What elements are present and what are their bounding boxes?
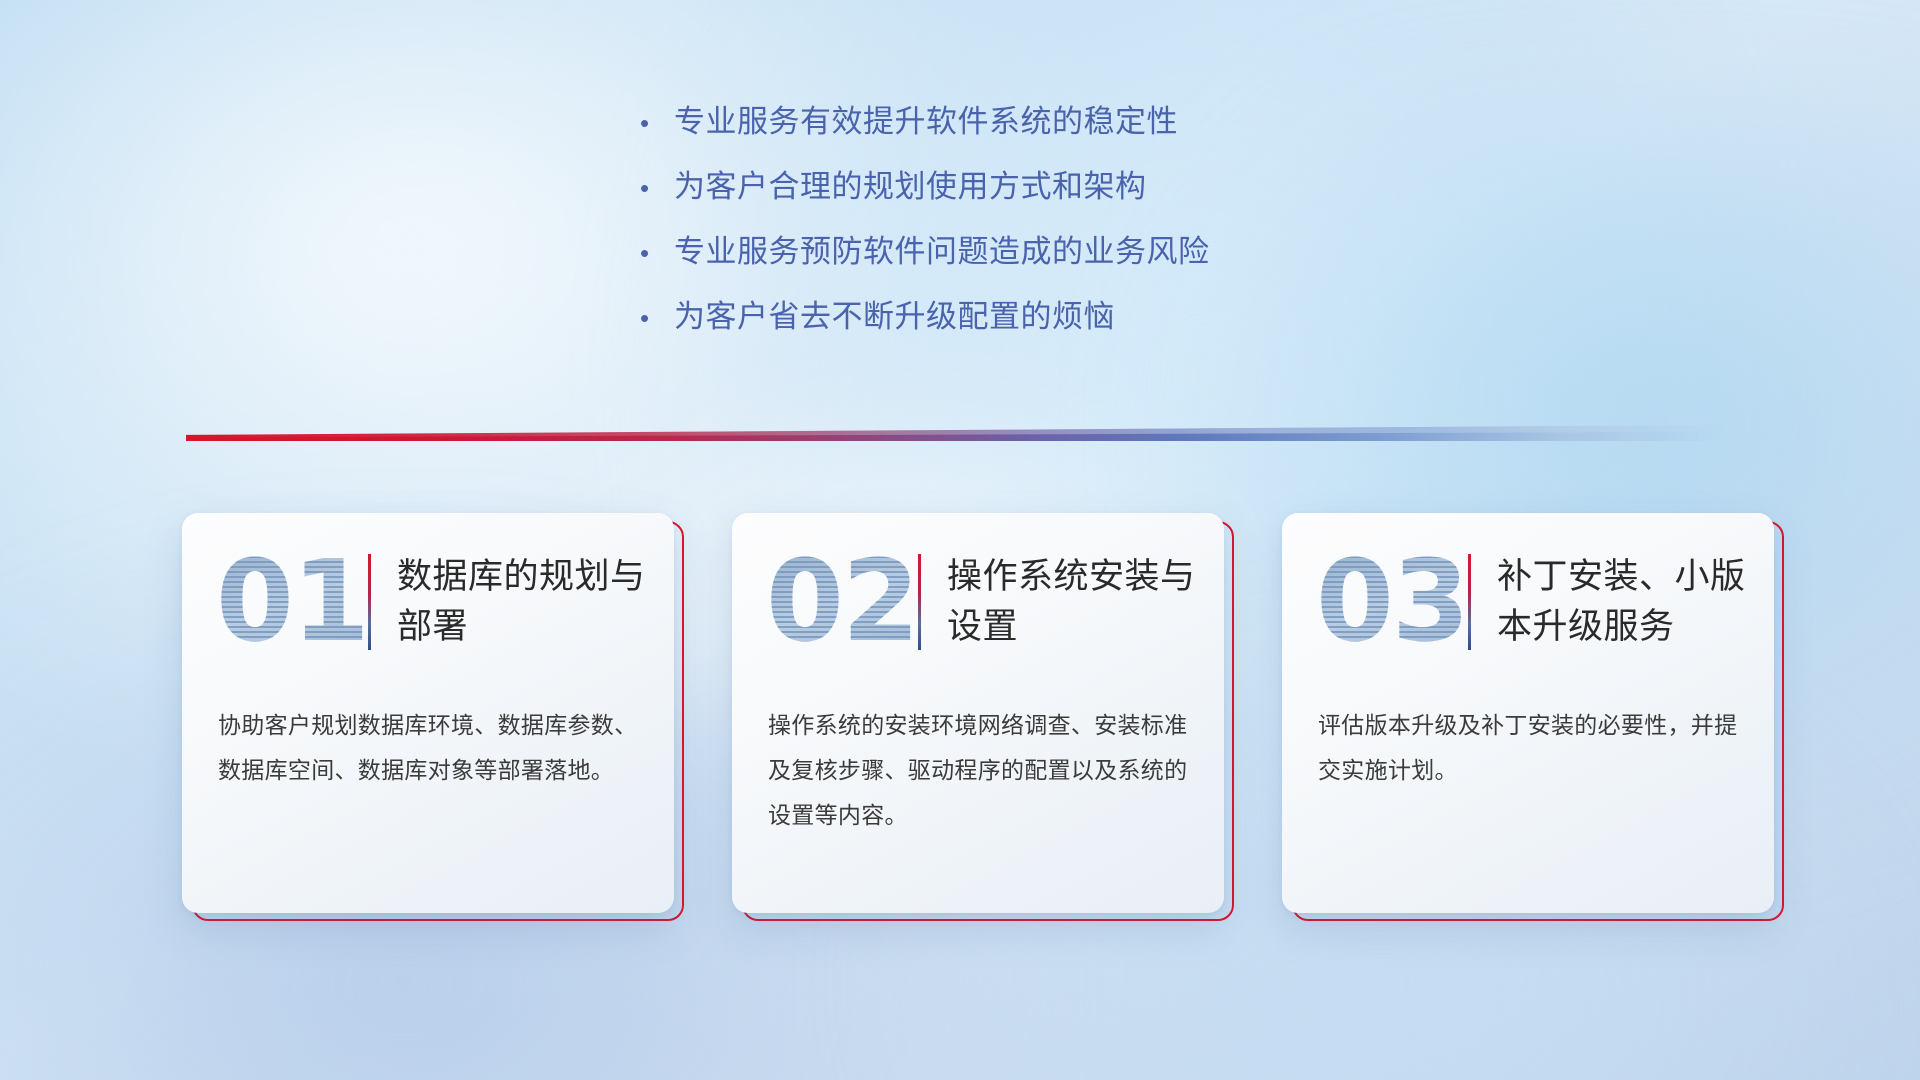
bullet-dot-icon: • (640, 240, 674, 266)
card-divider-rule (918, 554, 921, 650)
service-card-03[interactable]: 03 补丁安装、小版本升级服务 评估版本升级及补丁安装的必要性，并提交实施计划。 (1282, 513, 1774, 913)
card-divider-rule (1468, 554, 1471, 650)
gradient-divider (186, 425, 1726, 441)
card-divider-rule (368, 554, 371, 650)
card-number-watermark: 02 (766, 536, 910, 668)
card-title: 操作系统安装与设置 (947, 552, 1199, 652)
list-item: • 为客户合理的规划使用方式和架构 (640, 161, 1400, 226)
card-number-text: 02 (766, 536, 918, 668)
bullet-dot-icon: • (640, 305, 674, 331)
bullet-text: 为客户省去不断升级配置的烦恼 (674, 291, 1115, 336)
bullet-text: 专业服务预防软件问题造成的业务风险 (674, 226, 1210, 271)
bullet-dot-icon: • (640, 110, 674, 136)
card-title: 数据库的规划与部署 (397, 552, 649, 652)
card-title: 补丁安装、小版本升级服务 (1497, 552, 1749, 652)
card-description: 操作系统的安装环境网络调查、安装标准及复核步骤、驱动程序的配置以及系统的设置等内… (732, 691, 1224, 838)
card-panel[interactable]: 03 补丁安装、小版本升级服务 评估版本升级及补丁安装的必要性，并提交实施计划。 (1282, 513, 1774, 913)
list-item: • 专业服务有效提升软件系统的稳定性 (640, 96, 1400, 161)
service-card-01[interactable]: 01 数据库的规划与部署 协助客户规划数据库环境、数据库参数、数据库空间、数据库… (182, 513, 674, 913)
list-item: • 专业服务预防软件问题造成的业务风险 (640, 226, 1400, 291)
bullet-text: 专业服务有效提升软件系统的稳定性 (674, 96, 1178, 141)
benefits-bullet-list: • 专业服务有效提升软件系统的稳定性 • 为客户合理的规划使用方式和架构 • 专… (640, 96, 1400, 356)
card-panel[interactable]: 02 操作系统安装与设置 操作系统的安装环境网络调查、安装标准及复核步骤、驱动程… (732, 513, 1224, 913)
card-header: 03 补丁安装、小版本升级服务 (1282, 513, 1774, 691)
card-number-text: 01 (216, 536, 368, 668)
card-number-text: 03 (1316, 536, 1468, 668)
bullet-text: 为客户合理的规划使用方式和架构 (674, 161, 1147, 206)
card-description: 协助客户规划数据库环境、数据库参数、数据库空间、数据库对象等部署落地。 (182, 691, 674, 793)
card-number-watermark: 03 (1316, 536, 1460, 668)
card-number-watermark: 01 (216, 536, 360, 668)
card-header: 01 数据库的规划与部署 (182, 513, 674, 691)
card-description: 评估版本升级及补丁安装的必要性，并提交实施计划。 (1282, 691, 1774, 793)
list-item: • 为客户省去不断升级配置的烦恼 (640, 291, 1400, 356)
service-card-list: 01 数据库的规划与部署 协助客户规划数据库环境、数据库参数、数据库空间、数据库… (182, 513, 1774, 913)
bullet-dot-icon: • (640, 175, 674, 201)
service-card-02[interactable]: 02 操作系统安装与设置 操作系统的安装环境网络调查、安装标准及复核步骤、驱动程… (732, 513, 1224, 913)
card-header: 02 操作系统安装与设置 (732, 513, 1224, 691)
card-panel[interactable]: 01 数据库的规划与部署 协助客户规划数据库环境、数据库参数、数据库空间、数据库… (182, 513, 674, 913)
